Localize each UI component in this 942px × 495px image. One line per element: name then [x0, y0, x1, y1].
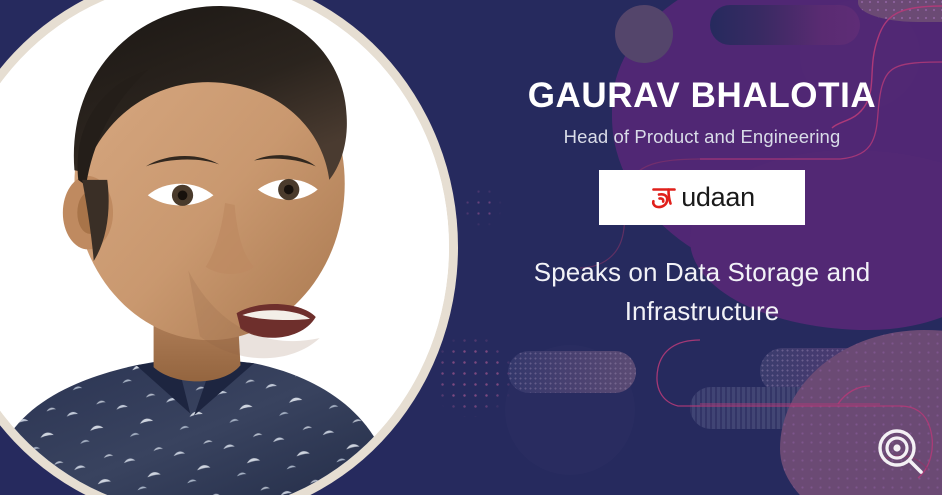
talk-topic: Speaks on Data Storage and Infrastructur… — [487, 253, 917, 331]
speaker-role: Head of Product and Engineering — [564, 126, 841, 148]
content-column: GAURAV BHALOTIA Head of Product and Engi… — [462, 0, 942, 495]
speaker-announcement-banner: GAURAV BHALOTIA Head of Product and Engi… — [0, 0, 942, 495]
company-logo-text: udaan — [681, 184, 755, 211]
talk-topic-line2: Infrastructure — [625, 296, 780, 326]
target-magnifier-icon — [876, 427, 926, 477]
company-logo-card: udaan — [599, 170, 805, 225]
speaker-photo-frame — [0, 0, 458, 495]
talk-topic-line1: Speaks on Data Storage and — [534, 257, 871, 287]
speaker-name: GAURAV BHALOTIA — [528, 78, 877, 113]
avatar — [0, 0, 449, 495]
speaker-portrait-illustration — [0, 0, 449, 495]
udaan-devanagari-mark-icon — [649, 183, 679, 213]
